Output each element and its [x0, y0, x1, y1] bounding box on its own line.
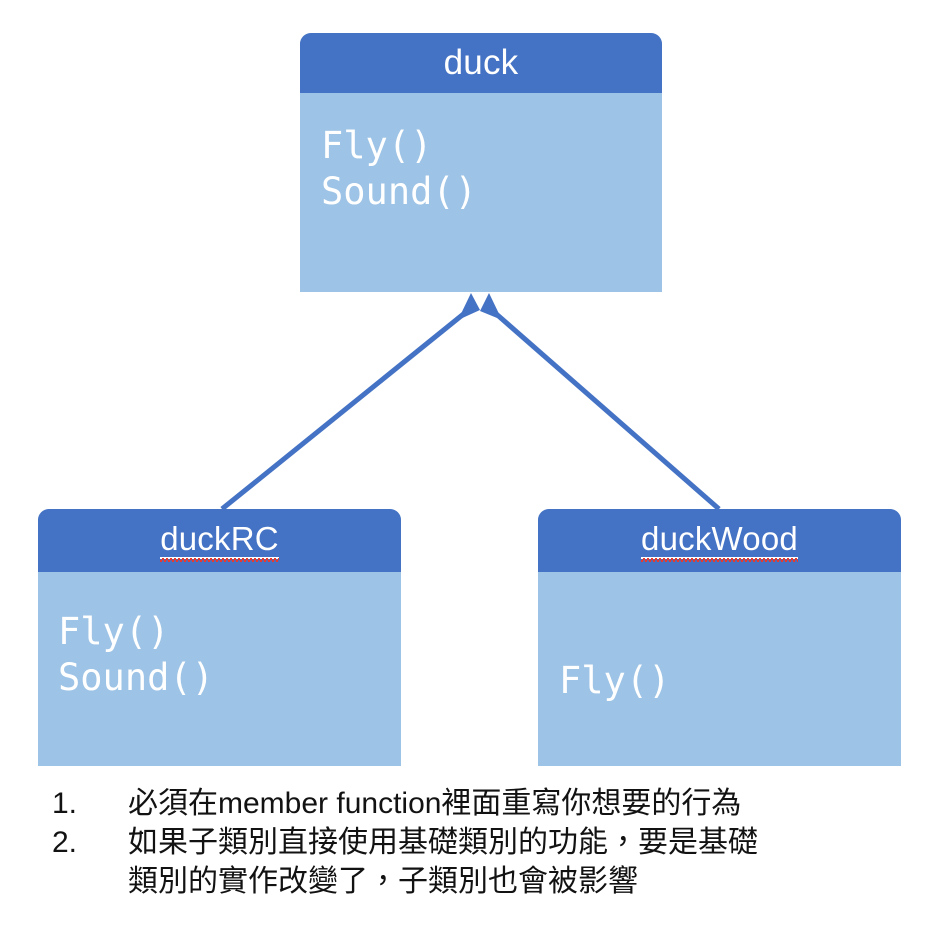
class-methods-duckrc: Fly() Sound() — [38, 572, 401, 702]
class-methods-duckwood: Fly() — [538, 572, 901, 704]
class-box-duckwood[interactable]: duckWood Fly() — [538, 509, 901, 766]
arrowhead-duckwood — [480, 293, 502, 320]
class-header-duckwood: duckWood — [538, 509, 901, 572]
note-number-2: 2. — [52, 823, 128, 862]
notes-list: 1. 必須在member function裡面重寫你想要的行為 2. 如果子類別… — [52, 784, 912, 901]
class-title-duckrc: duckRC — [160, 522, 279, 560]
note-item-2: 2. 如果子類別直接使用基礎類別的功能，要是基礎 類別的實作改變了，子類別也會被… — [52, 823, 912, 901]
class-methods-duck: Fly() Sound() — [300, 93, 662, 216]
class-header-duck: duck — [300, 33, 662, 93]
class-title-duck: duck — [444, 45, 519, 82]
note-text-1: 必須在member function裡面重寫你想要的行為 — [128, 784, 912, 823]
class-header-duckrc: duckRC — [38, 509, 401, 572]
class-box-duck[interactable]: duck Fly() Sound() — [300, 33, 662, 292]
note-number-1: 1. — [52, 784, 128, 823]
note-item-1: 1. 必須在member function裡面重寫你想要的行為 — [52, 784, 912, 823]
connector-duckrc-to-duck — [222, 293, 480, 509]
class-box-duckrc[interactable]: duckRC Fly() Sound() — [38, 509, 401, 766]
arrowhead-duckrc — [458, 293, 480, 320]
class-title-duckwood: duckWood — [641, 522, 798, 560]
note-text-2: 如果子類別直接使用基礎類別的功能，要是基礎 類別的實作改變了，子類別也會被影響 — [128, 823, 912, 901]
connector-duckwood-to-duck — [480, 293, 719, 509]
